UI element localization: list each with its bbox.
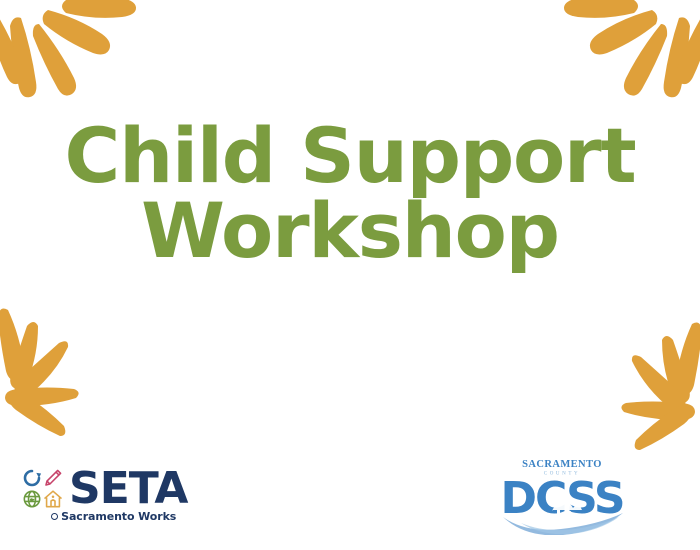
bullet-circle-icon bbox=[51, 513, 58, 520]
slide-canvas: Child Support Workshop bbox=[0, 0, 700, 550]
pencil-icon bbox=[43, 468, 63, 488]
sunburst-bottom-right-icon bbox=[571, 306, 700, 466]
house-icon bbox=[43, 489, 63, 509]
seta-logo-main: SETA bbox=[22, 468, 187, 509]
seta-tagline: Sacramento Works bbox=[51, 510, 176, 523]
dcss-logo: SACRAMENTO COUNTY DCSS bbox=[497, 455, 627, 535]
slide-title: Child Support Workshop bbox=[0, 118, 700, 268]
dcss-sacramento-text: SACRAMENTO bbox=[522, 459, 602, 470]
sunburst-top-right-icon bbox=[554, 0, 700, 109]
slide-title-line-2: Workshop bbox=[0, 193, 700, 268]
slide-title-line-1: Child Support bbox=[0, 118, 700, 193]
sunburst-top-left-icon bbox=[0, 0, 146, 109]
refresh-circle-icon bbox=[22, 468, 42, 488]
seta-icon-grid bbox=[22, 468, 63, 509]
seta-logo: SETA Sacramento Works bbox=[22, 468, 187, 523]
dcss-logo-graphic: SACRAMENTO COUNTY DCSS bbox=[497, 455, 627, 535]
globe-icon bbox=[22, 489, 42, 509]
seta-tagline-text: Sacramento Works bbox=[61, 510, 176, 523]
sunburst-bottom-left-icon bbox=[0, 292, 129, 452]
dcss-wordmark: DCSS bbox=[500, 473, 623, 524]
seta-wordmark: SETA bbox=[69, 469, 187, 509]
